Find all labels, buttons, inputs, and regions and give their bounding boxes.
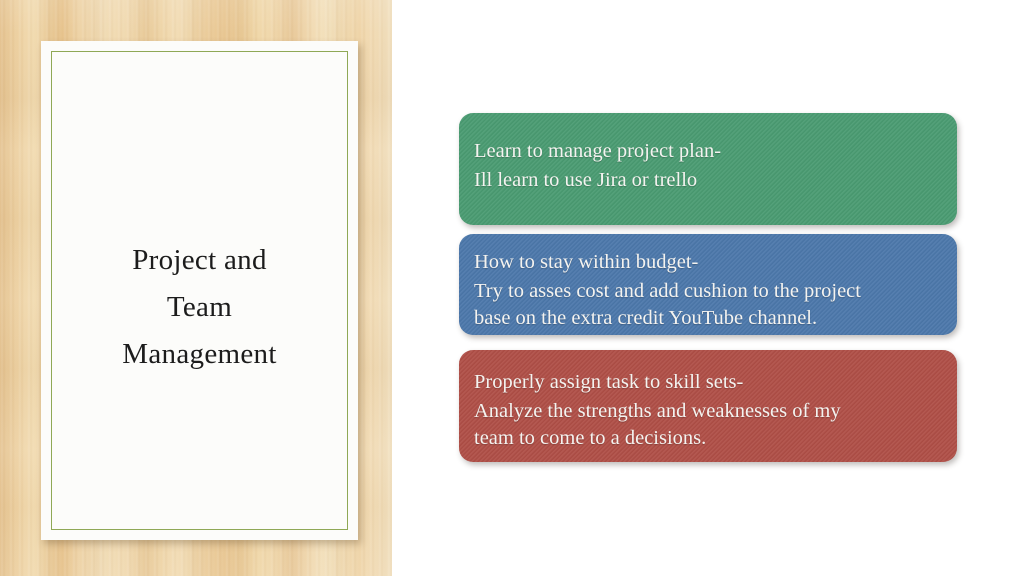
content-box-blue-body-line-1: Try to asses cost and add cushion to the… (474, 278, 939, 305)
page-title: Project and Team Management (41, 237, 358, 378)
content-box-green-body: Learn to manage project plan- Ill learn … (459, 113, 957, 212)
content-box-red-body-line-1: Analyze the strengths and weaknesses of … (474, 398, 939, 425)
content-box-red[interactable]: Properly assign task to skill sets- Anal… (459, 350, 957, 462)
content-box-red-body: Properly assign task to skill sets- Anal… (459, 350, 957, 462)
title-card: Project and Team Management (41, 41, 358, 540)
content-box-blue[interactable]: How to stay within budget- Try to asses … (459, 234, 957, 335)
content-box-blue-body-line-2: base on the extra credit YouTube channel… (474, 305, 939, 332)
content-box-blue-body: How to stay within budget- Try to asses … (459, 234, 957, 335)
content-box-blue-lead-line: How to stay within budget- (474, 246, 939, 278)
content-box-red-body-line-2: team to come to a decisions. (474, 425, 939, 452)
presentation-slide: Project and Team Management Learn to man… (0, 0, 1024, 576)
content-box-green-body-line-1: Ill learn to use Jira or trello (474, 167, 939, 194)
content-box-red-lead-line: Properly assign task to skill sets- (474, 366, 939, 398)
content-box-green[interactable]: Learn to manage project plan- Ill learn … (459, 113, 957, 225)
content-box-green-lead-line: Learn to manage project plan- (474, 135, 939, 167)
